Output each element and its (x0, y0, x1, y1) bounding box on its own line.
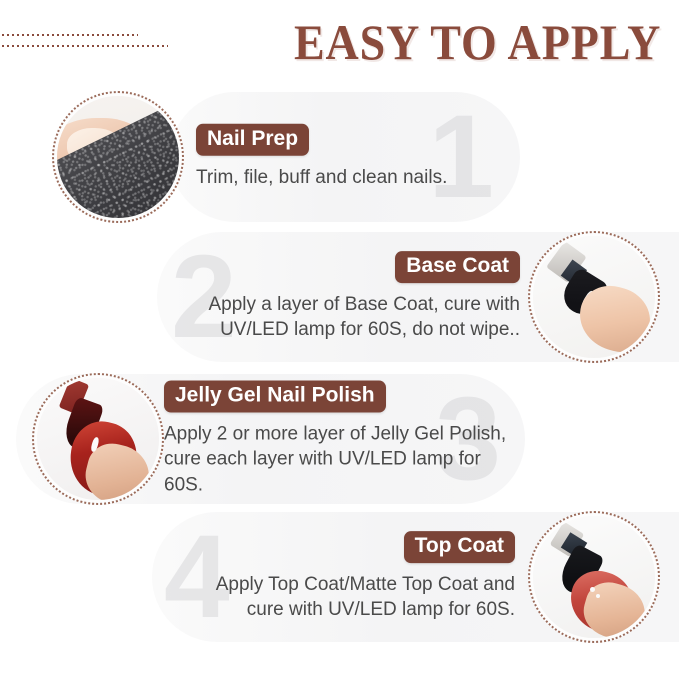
step-badge-1: Nail Prep (196, 124, 309, 156)
step-badge-4: Top Coat (404, 531, 515, 563)
header: EASY TO APPLY (0, 0, 679, 90)
top-coat-brush-photo (528, 511, 660, 643)
page-title: EASY TO APPLY (294, 13, 661, 71)
jelly-gel-illustration (37, 378, 159, 500)
step-row-1: 1 Nail Prep Trim, file, buff and clean n… (0, 92, 520, 222)
jelly-gel-polish-photo (32, 373, 164, 505)
base-coat-illustration (533, 236, 655, 358)
jelly-gel-photo-inner (37, 378, 159, 500)
step-content-1: Nail Prep Trim, file, buff and clean nai… (196, 124, 496, 190)
base-coat-photo-inner (533, 236, 655, 358)
nail-file-photo-inner (57, 96, 179, 218)
base-coat-brush-photo (528, 231, 660, 363)
top-coat-photo-inner (533, 516, 655, 638)
step-row-3: 3 Jelly Gel Nail Polish Apply 2 or more … (0, 374, 540, 504)
nail-file-photo (52, 91, 184, 223)
top-coat-illustration (533, 516, 655, 638)
step-description-4: Apply Top Coat/Matte Top Coat and cure w… (160, 572, 515, 623)
step-row-2: 2 Base Coat Apply a layer of Base Coat, … (0, 232, 679, 362)
step-description-1: Trim, file, buff and clean nails. (196, 165, 496, 190)
nail-file-illustration (57, 96, 179, 218)
dotted-line-top-icon (2, 34, 138, 36)
step-badge-2: Base Coat (395, 251, 520, 283)
step-badge-3: Jelly Gel Nail Polish (164, 381, 386, 413)
step-description-3: Apply 2 or more layer of Jelly Gel Polis… (164, 422, 524, 498)
step-content-2: Base Coat Apply a layer of Base Coat, cu… (160, 251, 520, 343)
easy-to-apply-infographic: EASY TO APPLY 1 Nail Prep Trim, file, bu… (0, 0, 679, 679)
step-content-3: Jelly Gel Nail Polish Apply 2 or more la… (164, 381, 524, 498)
step-description-2: Apply a layer of Base Coat, cure with UV… (160, 292, 520, 343)
dotted-line-bottom-icon (2, 45, 168, 47)
step-content-4: Top Coat Apply Top Coat/Matte Top Coat a… (160, 531, 515, 623)
step-row-4: 4 Top Coat Apply Top Coat/Matte Top Coat… (0, 512, 679, 642)
header-decoration (2, 34, 182, 56)
